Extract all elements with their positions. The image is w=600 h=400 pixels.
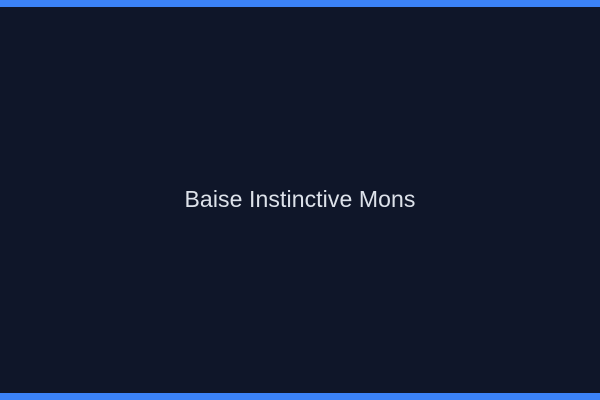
placeholder-caption: Baise Instinctive Mons xyxy=(184,186,415,214)
bottom-accent-bar xyxy=(0,393,600,400)
placeholder-content-area: Baise Instinctive Mons xyxy=(0,7,600,393)
placeholder-image: Baise Instinctive Mons xyxy=(0,0,600,400)
top-accent-bar xyxy=(0,0,600,7)
